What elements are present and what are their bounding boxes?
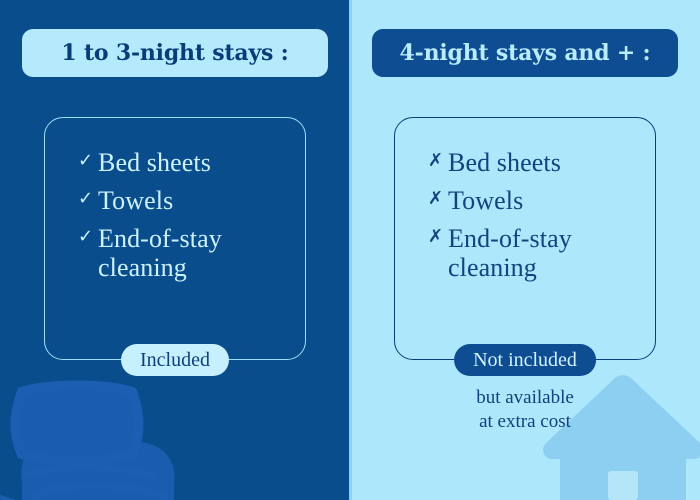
list-included-items: ✓ Bed sheets ✓ Towels ✓ End-of-stay clea… (78, 148, 295, 291)
list-item: ✗ Towels (428, 186, 645, 215)
list-item-label: Towels (98, 186, 173, 215)
status-subnote-line1: but available (350, 386, 700, 410)
list-item: ✓ Bed sheets (78, 148, 295, 177)
list-item: ✓ Towels (78, 186, 295, 215)
card-long-stays: ✗ Bed sheets ✗ Towels ✗ End-of-stay clea… (394, 117, 656, 360)
header-label-short-stays: 1 to 3-night stays : (61, 40, 288, 66)
panel-divider (349, 0, 352, 500)
status-subnote-line2: at extra cost (350, 410, 700, 434)
status-subnote: but available at extra cost (350, 386, 700, 435)
list-item-label: End-of-stay cleaning (98, 224, 295, 282)
panel-short-stays: 1 to 3-night stays : ✓ Bed sheets ✓ Towe… (0, 0, 350, 500)
panel-long-stays: 4-night stays and + : ✗ Bed sheets ✗ Tow… (350, 0, 700, 500)
list-item-label: Bed sheets (98, 148, 211, 177)
list-item: ✗ Bed sheets (428, 148, 645, 177)
list-item-label: End-of-stay cleaning (448, 224, 645, 282)
header-label-long-stays: 4-night stays and + : (400, 40, 651, 66)
list-item: ✗ End-of-stay cleaning (428, 224, 645, 282)
cross-mark-icon: ✗ (428, 224, 448, 250)
cross-mark-icon: ✗ (428, 186, 448, 212)
list-item-label: Towels (448, 186, 523, 215)
check-mark-icon: ✓ (78, 224, 98, 250)
check-mark-icon: ✓ (78, 186, 98, 212)
status-badge-label: Included (140, 349, 210, 372)
list-excluded-items: ✗ Bed sheets ✗ Towels ✗ End-of-stay clea… (428, 148, 645, 291)
bedding-pillow-illustration (0, 372, 192, 500)
list-item: ✓ End-of-stay cleaning (78, 224, 295, 282)
card-short-stays: ✓ Bed sheets ✓ Towels ✓ End-of-stay clea… (44, 117, 306, 360)
status-badge-label: Not included (473, 349, 577, 372)
header-badge-long-stays: 4-night stays and + : (372, 29, 678, 77)
status-badge-not-included: Not included (454, 344, 596, 376)
check-mark-icon: ✓ (78, 148, 98, 174)
comparison-infographic: 1 to 3-night stays : ✓ Bed sheets ✓ Towe… (0, 0, 700, 500)
list-item-label: Bed sheets (448, 148, 561, 177)
header-badge-short-stays: 1 to 3-night stays : (22, 29, 328, 77)
cross-mark-icon: ✗ (428, 148, 448, 174)
status-badge-included: Included (121, 344, 229, 376)
